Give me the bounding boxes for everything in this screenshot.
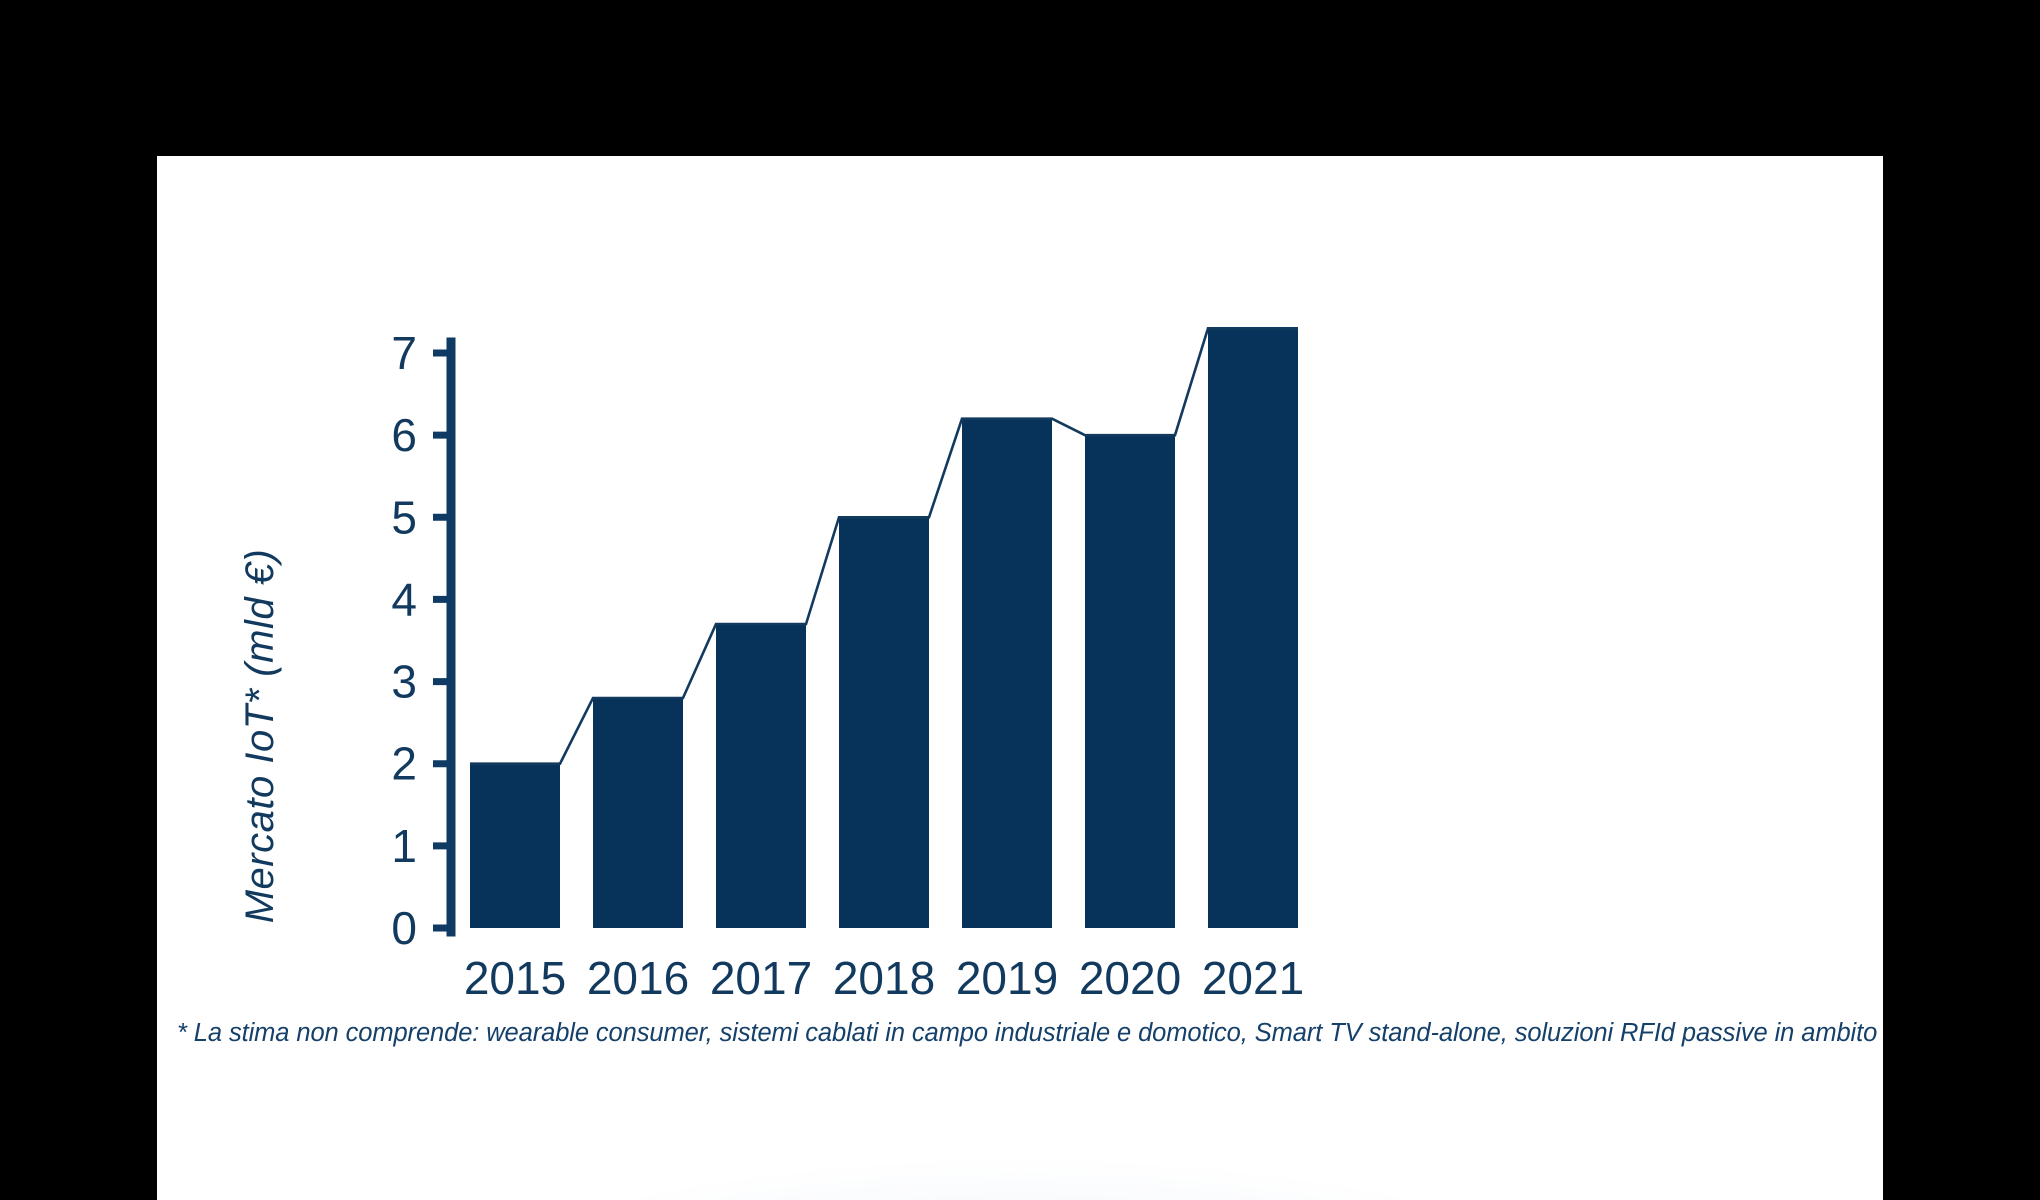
y-tick-label: 6 <box>391 409 417 461</box>
y-axis-title-text: Mercato IoT* (mld €) <box>238 549 282 924</box>
y-tick-label: 7 <box>391 327 417 379</box>
x-axis-labels: 2015201620172018201920202021 <box>464 952 1304 1004</box>
x-tick-label: 2021 <box>1202 952 1304 1004</box>
y-tick-label: 2 <box>391 738 417 790</box>
y-tick-label: 4 <box>391 573 417 625</box>
slide-panel: Mercato IoT* (mld €) 01234567 2015201620… <box>157 156 1883 1200</box>
y-tick-label: 0 <box>391 902 417 954</box>
bar <box>593 698 683 928</box>
bar <box>962 419 1052 928</box>
x-tick-label: 2019 <box>956 952 1058 1004</box>
y-tick-label: 3 <box>391 656 417 708</box>
x-tick-label: 2015 <box>464 952 566 1004</box>
bar <box>1208 328 1298 928</box>
bar <box>716 624 806 928</box>
x-tick-label: 2017 <box>710 952 812 1004</box>
y-tick-label: 5 <box>391 491 417 543</box>
x-tick-label: 2018 <box>833 952 935 1004</box>
y-axis-ticks: 01234567 <box>391 327 451 954</box>
slide-screenshot: Mercato IoT* (mld €) 01234567 2015201620… <box>0 0 2040 1200</box>
bar <box>839 517 929 928</box>
bar <box>470 764 560 928</box>
chart-footnote: * La stima non comprende: wearable consu… <box>177 1019 1867 1048</box>
bar <box>1085 435 1175 928</box>
x-tick-label: 2020 <box>1079 952 1181 1004</box>
bar-series <box>470 328 1298 928</box>
y-axis-title: Mercato IoT* (mld €) <box>238 549 282 924</box>
x-tick-label: 2016 <box>587 952 689 1004</box>
y-tick-label: 1 <box>391 820 417 872</box>
